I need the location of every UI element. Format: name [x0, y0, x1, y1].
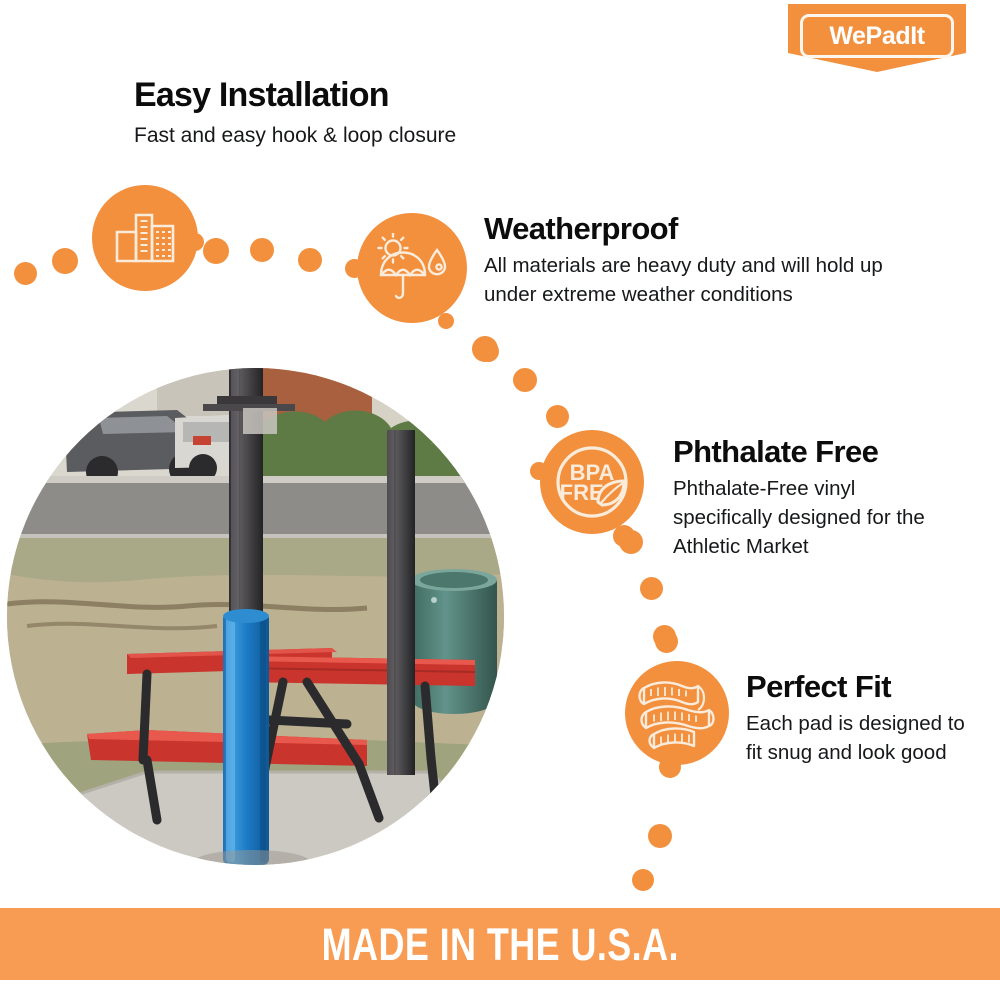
brand-logo: WePadIt — [788, 4, 966, 72]
feature-desc-weatherproof: All materials are heavy duty and will ho… — [484, 251, 904, 309]
icon-accent-nub — [613, 525, 635, 547]
trail-dot — [648, 824, 672, 848]
feature-easy-installation-text: Easy Installation Fast and easy hook & l… — [134, 76, 456, 151]
feature-desc-phthalate-free: Phthalate-Free vinyl specifically design… — [673, 474, 935, 561]
feature-title-perfect-fit: Perfect Fit — [746, 670, 974, 705]
trail-dot — [52, 248, 78, 274]
trail-dot — [655, 630, 678, 653]
product-infographic: WePadIt Easy Installation Fast and easy … — [0, 0, 1000, 987]
feature-title-phthalate-free: Phthalate Free — [673, 435, 935, 470]
trail-dot — [632, 869, 654, 891]
trail-dot — [640, 577, 663, 600]
trail-dot — [250, 238, 274, 262]
sun-umbrella-raindrop-icon — [357, 213, 467, 323]
bpa-free-leaf-icon: BPA FREE — [540, 430, 644, 534]
measuring-tape-icon — [625, 661, 729, 765]
feature-title-easy-installation: Easy Installation — [134, 76, 456, 114]
icon-accent-nub — [186, 233, 204, 251]
made-in-usa-text: MADE IN THE U.S.A. — [321, 922, 678, 967]
trail-dot — [203, 238, 229, 264]
feature-desc-perfect-fit: Each pad is designed to fit snug and loo… — [746, 709, 974, 767]
building-installation-icon — [92, 185, 198, 291]
feature-title-weatherproof: Weatherproof — [484, 212, 904, 247]
logo-outline-box: WePadIt — [800, 14, 954, 58]
trail-dot — [14, 262, 37, 285]
trail-dot — [513, 368, 537, 392]
feature-phthalate-free-text: Phthalate Free Phthalate-Free vinyl spec… — [673, 435, 935, 561]
made-in-usa-banner: MADE IN THE U.S.A. — [0, 908, 1000, 980]
icon-accent-nub — [438, 313, 454, 329]
trail-dot — [478, 341, 499, 362]
product-photo — [7, 368, 504, 865]
feature-weatherproof-text: Weatherproof All materials are heavy dut… — [484, 212, 904, 309]
trail-dot — [298, 248, 322, 272]
icon-accent-nub — [659, 756, 681, 778]
icon-accent-nub — [530, 462, 548, 480]
icon-accent-nub — [345, 259, 364, 278]
trail-dot — [546, 405, 569, 428]
logo-text: WePadIt — [829, 24, 924, 49]
feature-desc-easy-installation: Fast and easy hook & loop closure — [134, 121, 456, 151]
feature-perfect-fit-text: Perfect Fit Each pad is designed to fit … — [746, 670, 974, 767]
